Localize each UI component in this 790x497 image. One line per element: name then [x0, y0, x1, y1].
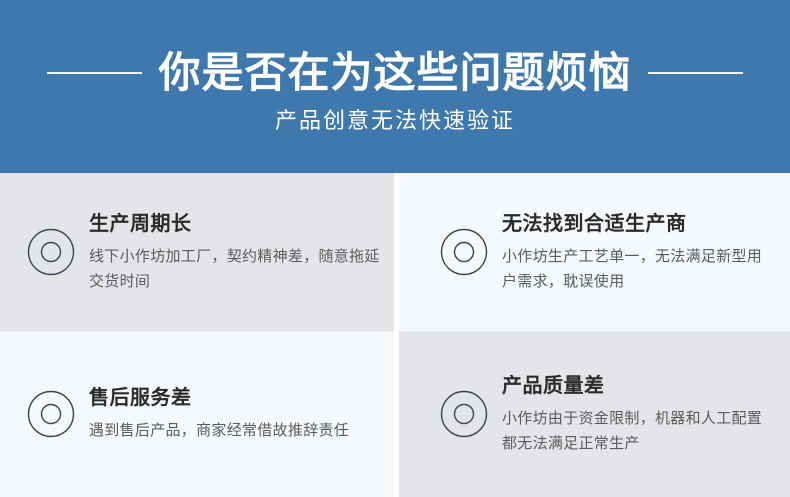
problem-card-title: 售后服务差 [89, 385, 394, 411]
concentric-circle-icon [440, 390, 488, 438]
problem-card-title: 产品质量差 [502, 373, 790, 399]
problem-card-description: 小作坊由于资金限制，机器和人工配置都无法满足正常生产 [502, 406, 774, 456]
page-subtitle: 产品创意无法快速验证 [0, 106, 790, 136]
decorative-rule-right-icon [648, 72, 743, 74]
concentric-circle-icon [27, 390, 75, 438]
problem-card-title: 无法找到合适生产商 [502, 211, 790, 237]
problem-card-text: 产品质量差 小作坊由于资金限制，机器和人工配置都无法满足正常生产 [502, 373, 790, 456]
problem-card-title: 生产周期长 [89, 211, 394, 237]
problem-card-text: 生产周期长 线下小作坊加工厂，契约精神差，随意拖延交货时间 [89, 211, 394, 294]
concentric-circle-icon [440, 228, 488, 276]
problem-card-text: 无法找到合适生产商 小作坊生产工艺单一，无法满足新型用户需求，耽误使用 [502, 211, 790, 294]
decorative-rule-left-icon [47, 72, 142, 74]
problem-card-description: 小作坊生产工艺单一，无法满足新型用户需求，耽误使用 [502, 244, 774, 294]
problem-card: 售后服务差 遇到售后产品，商家经常借故推辞责任 [0, 331, 394, 497]
concentric-circle-icon [27, 228, 75, 276]
problem-card-grid: 生产周期长 线下小作坊加工厂，契约精神差，随意拖延交货时间 无法找到合适生产商 … [0, 173, 790, 497]
header-banner: 你是否在为这些问题烦恼 产品创意无法快速验证 [0, 0, 790, 173]
problem-card-description: 遇到售后产品，商家经常借故推辞责任 [89, 418, 389, 443]
problem-card: 无法找到合适生产商 小作坊生产工艺单一，无法满足新型用户需求，耽误使用 [399, 173, 790, 331]
banner-title-row: 你是否在为这些问题烦恼 [0, 44, 790, 102]
promo-page: 你是否在为这些问题烦恼 产品创意无法快速验证 生产周期长 线下小作坊加工厂，契约… [0, 0, 790, 497]
page-title: 你是否在为这些问题烦恼 [158, 49, 631, 97]
problem-card-text: 售后服务差 遇到售后产品，商家经常借故推辞责任 [89, 385, 394, 443]
problem-card: 生产周期长 线下小作坊加工厂，契约精神差，随意拖延交货时间 [0, 173, 394, 331]
problem-card-description: 线下小作坊加工厂，契约精神差，随意拖延交货时间 [89, 244, 389, 294]
problem-card: 产品质量差 小作坊由于资金限制，机器和人工配置都无法满足正常生产 [399, 331, 790, 497]
